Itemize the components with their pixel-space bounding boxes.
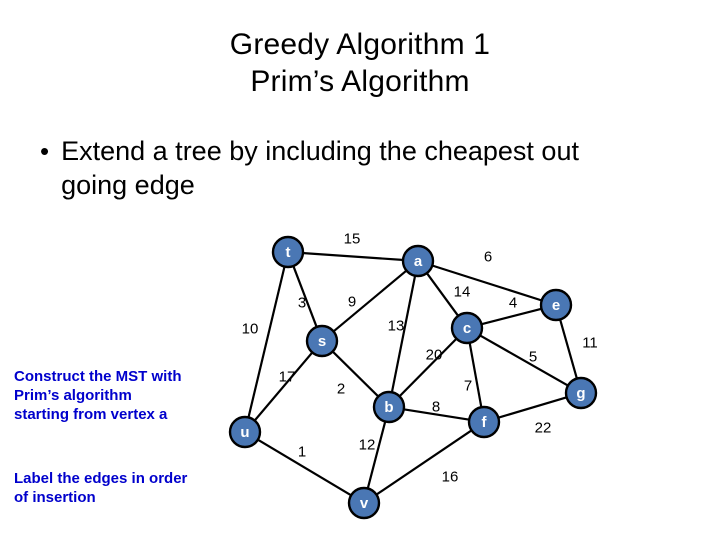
edge-weight-s-b: 2 [337, 381, 345, 398]
edge-weight-s-u: 17 [279, 369, 296, 386]
graph-node-label-g: g [576, 385, 585, 402]
graph-edge-f-g [497, 397, 567, 418]
graph-edge-s-u [254, 352, 313, 422]
graph-node-label-c: c [463, 320, 471, 337]
edge-weight-t-s: 3 [298, 295, 306, 312]
edge-weight-b-f: 8 [432, 399, 440, 416]
graph-node-label-u: u [240, 424, 249, 441]
edge-weight-a-c: 14 [454, 284, 471, 301]
edge-weight-u-v: 1 [298, 444, 306, 461]
edge-weight-b-v: 12 [359, 437, 376, 454]
graph-node-e[interactable]: e [541, 290, 571, 320]
graph-edge-c-f [469, 342, 481, 408]
graph-node-g[interactable]: g [566, 378, 596, 408]
graph-node-label-a: a [414, 253, 423, 270]
edge-weight-c-f: 7 [464, 378, 472, 395]
graph-node-t[interactable]: t [273, 237, 303, 267]
graph-node-a[interactable]: a [403, 246, 433, 276]
edge-weight-e-g: 11 [582, 335, 598, 352]
edge-weight-s-a: 9 [348, 294, 356, 311]
edge-weight-c-g: 5 [529, 349, 537, 366]
graph-edge-t-a [302, 253, 404, 260]
graph-node-v[interactable]: v [349, 488, 379, 518]
edge-weight-c-e: 4 [509, 295, 517, 312]
graph-edge-e-g [560, 318, 577, 379]
edge-weight-t-a: 15 [344, 231, 361, 248]
slide-canvas: Greedy Algorithm 1 Prim’s Algorithm • Ex… [0, 0, 720, 540]
graph-node-label-v: v [360, 495, 369, 512]
graph-edge-c-g [479, 335, 569, 386]
graph-node-s[interactable]: s [307, 326, 337, 356]
graph-node-u[interactable]: u [230, 417, 260, 447]
graph-node-c[interactable]: c [452, 313, 482, 343]
graph-node-label-t: t [286, 244, 291, 261]
edge-weight-t-u: 10 [242, 321, 259, 338]
graph-diagram: taescgbufv 15310917261413420571181211622 [0, 0, 720, 540]
graph-node-b[interactable]: b [374, 392, 404, 422]
edge-weight-a-e: 6 [484, 249, 492, 266]
edge-weight-c-b: 20 [426, 347, 443, 364]
graph-node-f[interactable]: f [469, 407, 499, 437]
graph-edge-a-e [431, 265, 542, 300]
graph-node-label-e: e [552, 297, 560, 314]
graph-edge-b-v [368, 421, 386, 490]
edge-weight-f-g: 22 [535, 420, 552, 437]
graph-node-label-b: b [384, 399, 393, 416]
edge-weight-a-b: 13 [388, 318, 405, 335]
graph-edge-t-u [248, 266, 284, 419]
edge-weight-f-v: 16 [442, 469, 459, 486]
graph-node-label-s: s [318, 333, 326, 350]
